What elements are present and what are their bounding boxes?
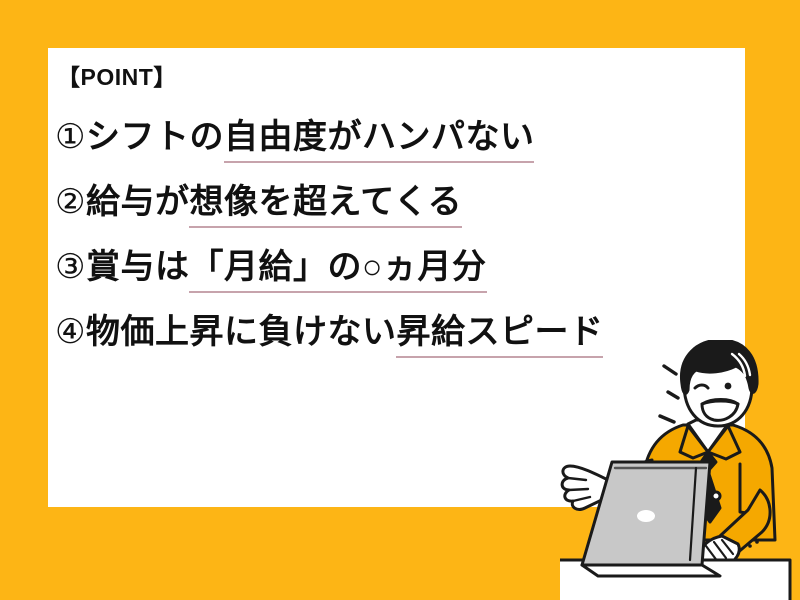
- list-item-number: ④: [55, 313, 86, 351]
- list-item-number: ③: [55, 248, 86, 286]
- list-item-plain-text: 物価上昇に負けない: [86, 313, 397, 351]
- cuff-button-dot-2: [755, 540, 759, 544]
- list-item-emphasis-text: 想像を超えてくる: [189, 183, 462, 228]
- list-item: ③賞与は「月給」の○ヵ月分: [55, 238, 695, 303]
- list-item-number: ①: [55, 118, 86, 156]
- list-item: ②給与が想像を超えてくる: [55, 173, 695, 238]
- slide-canvas: 【POINT】 ①シフトの自由度がハンパない ②給与が想像を超えてくる ③賞与は…: [0, 0, 800, 600]
- cuff-button-dot-1: [748, 544, 752, 548]
- list-item-plain-text: 給与が: [86, 183, 190, 221]
- list-item-emphasis-text: 「月給」の○ヵ月分: [189, 248, 486, 293]
- jacket-button: [712, 492, 720, 500]
- point-list: ①シフトの自由度がハンパない ②給与が想像を超えてくる ③賞与は「月給」の○ヵ月…: [55, 108, 695, 368]
- list-item-plain-text: 賞与は: [86, 248, 190, 286]
- list-item-number: ②: [55, 183, 86, 221]
- list-item-emphasis-text: 自由度がハンパない: [224, 118, 535, 163]
- emphasis-stroke-3: [664, 366, 676, 374]
- list-item: ①シフトの自由度がハンパない: [55, 108, 695, 173]
- businessman-at-laptop-illustration: [560, 340, 800, 600]
- laptop-logo: [637, 510, 655, 522]
- finger-line-2: [569, 489, 588, 490]
- laptop-base: [582, 565, 720, 576]
- emphasis-stroke-2: [660, 416, 674, 422]
- eye-open: [725, 383, 732, 390]
- list-item-plain-text: シフトの: [86, 118, 224, 156]
- emphasis-stroke-1: [668, 392, 678, 398]
- page-title: 【POINT】: [57, 58, 177, 92]
